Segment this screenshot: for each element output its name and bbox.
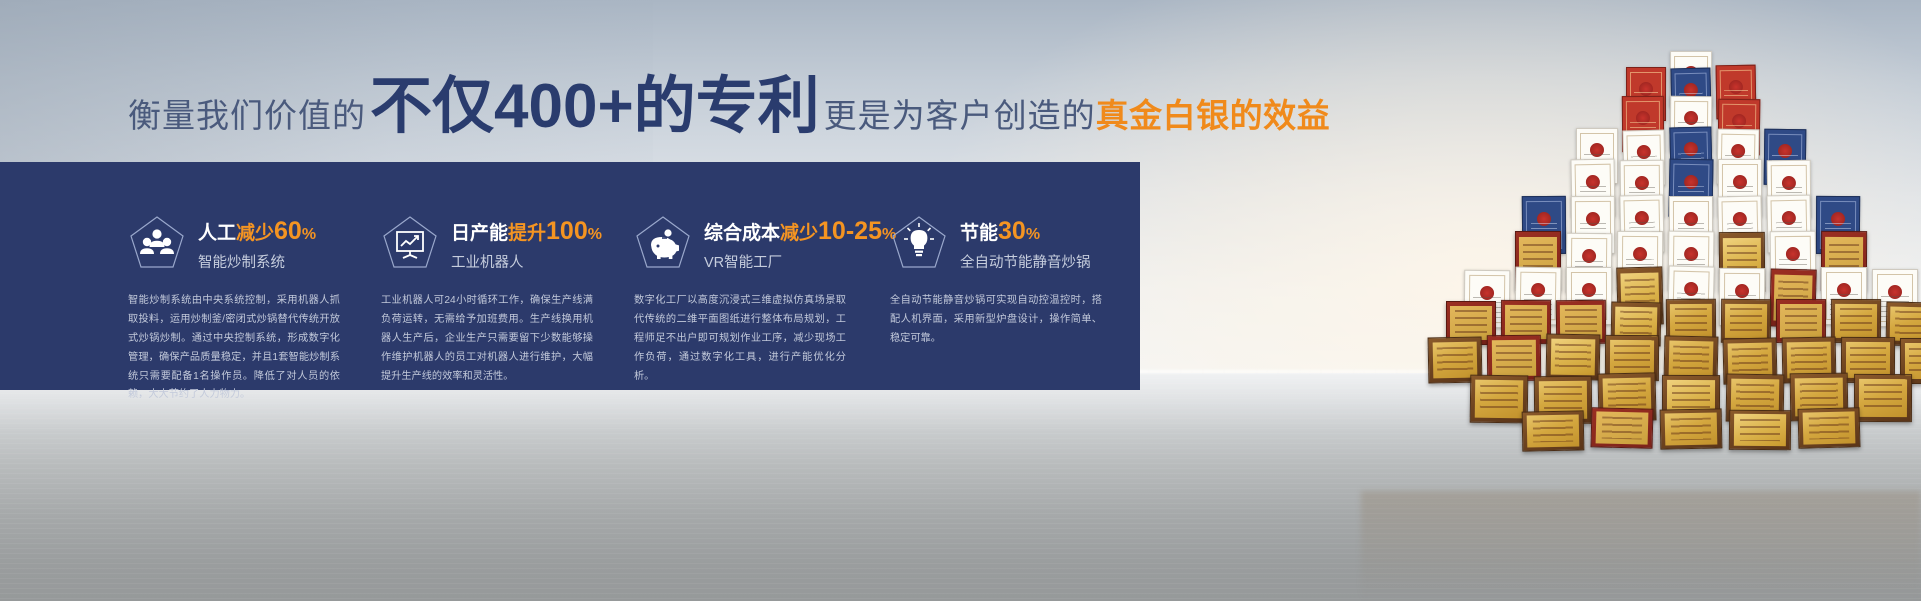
feature-title-prefix: 人工	[198, 223, 236, 244]
feature-title: 综合成本减少10-25%	[704, 216, 896, 246]
feature-subtitle: 全自动节能静音炒锅	[960, 251, 1091, 272]
feature-title-number: 30	[998, 217, 1026, 245]
feature-text: 节能30% 全自动节能静音炒锅	[960, 214, 1091, 272]
feature-title: 人工减少60%	[198, 216, 316, 246]
headline-lead: 衡量我们价值的	[128, 89, 366, 137]
feature-header: 综合成本减少10-25% VR智能工厂	[634, 214, 890, 272]
feature-title: 日产能提升100%	[451, 216, 602, 246]
feature-title-accent: 提升	[508, 223, 546, 244]
feature-title-accent: 减少	[780, 223, 818, 244]
feature-subtitle: VR智能工厂	[704, 251, 896, 272]
feature-item: 人工减少60% 智能炒制系统 智能炒制系统由中央系统控制，采用机器人抓取投料，运…	[128, 214, 381, 390]
feature-header: 节能30% 全自动节能静音炒锅	[890, 214, 1143, 272]
feature-header: 人工减少60% 智能炒制系统	[128, 214, 381, 272]
certificates-reflection	[1361, 491, 1921, 601]
award-plaque	[1590, 407, 1653, 449]
feature-title-accent: 减少	[236, 223, 274, 244]
page-headline: 衡量我们价值的 不仅400+的专利 更是为客户创造的 真金白银的效益	[128, 76, 1330, 138]
award-plaque	[1470, 375, 1529, 424]
feature-title-number: 60	[274, 217, 302, 245]
headline-highlight: 真金白银的效益	[1096, 89, 1331, 137]
feature-title-prefix: 综合成本	[704, 223, 780, 244]
feature-subtitle: 工业机器人	[451, 251, 602, 272]
lightbulb-icon	[890, 214, 948, 272]
certificates-display	[1361, 0, 1921, 601]
feature-body: 数字化工厂以高度沉浸式三维虚拟仿真场景取代传统的二维平面图纸进行整体布局规划，工…	[634, 292, 846, 386]
award-plaque	[1522, 410, 1585, 451]
feature-item: 节能30% 全自动节能静音炒锅 全自动节能静音炒锅可实现自动控温控时，搭配人机界…	[890, 214, 1143, 390]
piggy-bank-icon	[634, 214, 692, 272]
people-group-icon	[128, 214, 186, 272]
headline-middle: 更是为客户创造的	[824, 89, 1096, 137]
feature-body: 智能炒制系统由中央系统控制，采用机器人抓取投料，运用炒制釜/密闭式炒锅替代传统开…	[128, 292, 340, 405]
feature-text: 人工减少60% 智能炒制系统	[198, 214, 316, 272]
feature-item: 日产能提升100% 工业机器人 工业机器人可24小时循环工作，确保生产线满负荷运…	[381, 214, 634, 390]
feature-text: 综合成本减少10-25% VR智能工厂	[704, 214, 896, 272]
feature-title-unit: %	[588, 226, 602, 243]
feature-title-number: 10-25	[818, 217, 882, 245]
feature-body: 工业机器人可24小时循环工作，确保生产线满负荷运转，无需给予加班费用。生产线换用…	[381, 292, 593, 386]
feature-subtitle: 智能炒制系统	[198, 251, 316, 272]
chart-board-icon	[381, 214, 439, 272]
feature-body: 全自动节能静音炒锅可实现自动控温控时，搭配人机界面，采用新型炉盘设计，操作简单、…	[890, 292, 1102, 349]
headline-emphasis: 不仅400+的专利	[370, 76, 820, 138]
features-list: 人工减少60% 智能炒制系统 智能炒制系统由中央系统控制，采用机器人抓取投料，运…	[0, 162, 1143, 390]
award-plaque	[1729, 410, 1791, 451]
feature-title-prefix: 日产能	[451, 223, 508, 244]
feature-title-number: 100	[546, 217, 588, 245]
award-plaque	[1660, 408, 1723, 449]
award-plaque	[1546, 334, 1601, 381]
award-plaque	[1797, 407, 1860, 449]
award-plaque	[1854, 374, 1912, 422]
feature-title: 节能30%	[960, 216, 1091, 246]
feature-title-unit: %	[302, 226, 316, 243]
award-plaque	[1721, 299, 1771, 343]
feature-title-prefix: 节能	[960, 223, 998, 244]
feature-header: 日产能提升100% 工业机器人	[381, 214, 634, 272]
feature-item: 综合成本减少10-25% VR智能工厂 数字化工厂以高度沉浸式三维虚拟仿真场景取…	[634, 214, 890, 390]
feature-text: 日产能提升100% 工业机器人	[451, 214, 602, 272]
feature-title-unit: %	[1026, 226, 1040, 243]
